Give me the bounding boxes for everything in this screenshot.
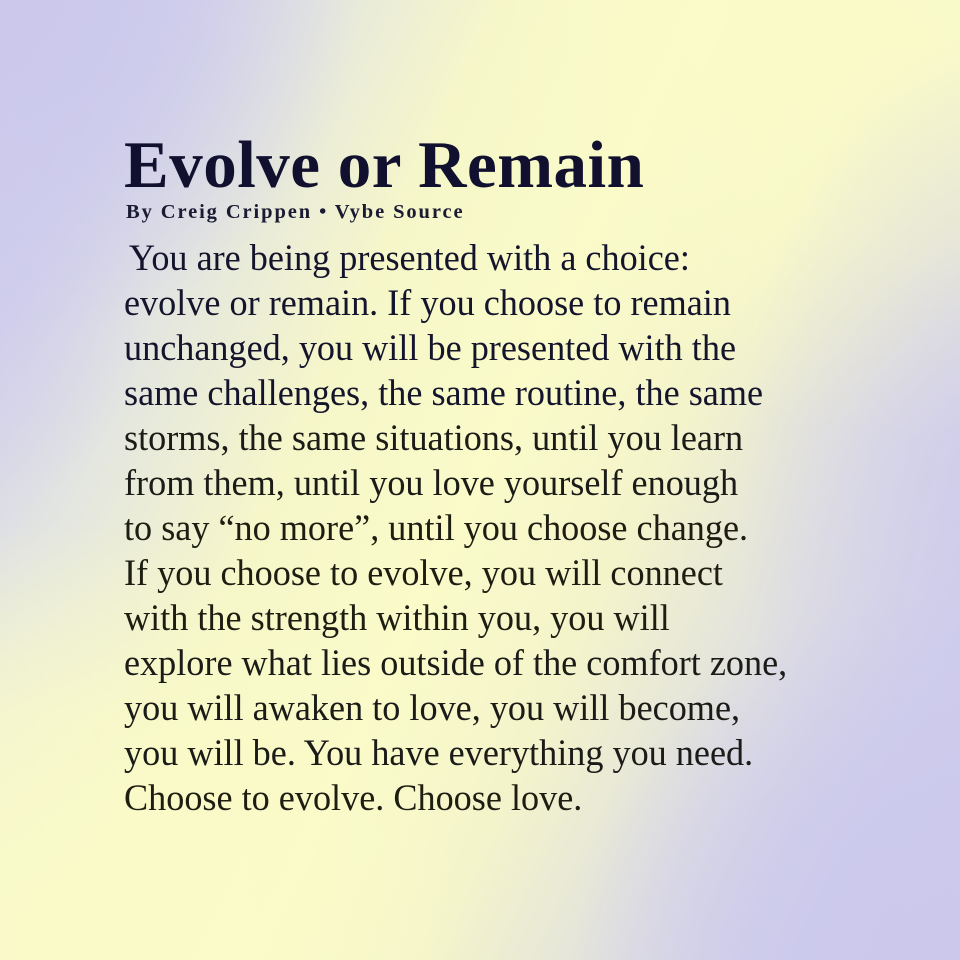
quote-line: with the strength within you, you will bbox=[124, 596, 800, 641]
quote-line: to say “no more”, until you choose chang… bbox=[124, 506, 800, 551]
page-title: Evolve or Remain bbox=[124, 132, 824, 199]
quote-poster: Evolve or Remain By Creig Crippen • Vybe… bbox=[0, 0, 960, 960]
quote-line: If you choose to evolve, you will connec… bbox=[124, 551, 800, 596]
quote-line: same challenges, the same routine, the s… bbox=[124, 371, 800, 416]
poster-content: Evolve or Remain By Creig Crippen • Vybe… bbox=[124, 132, 824, 821]
quote-line: explore what lies outside of the comfort… bbox=[124, 641, 800, 686]
quote-line: you will be. You have everything you nee… bbox=[124, 731, 800, 776]
quote-line: unchanged, you will be presented with th… bbox=[124, 326, 800, 371]
quote-line: evolve or remain. If you choose to remai… bbox=[124, 281, 800, 326]
quote-line: from them, until you love yourself enoug… bbox=[124, 461, 800, 506]
quote-line: you will awaken to love, you will become… bbox=[124, 686, 800, 731]
quote-body: You are being presented with a choice: e… bbox=[124, 236, 824, 821]
byline: By Creig Crippen • Vybe Source bbox=[126, 201, 824, 224]
quote-line: storms, the same situations, until you l… bbox=[124, 416, 800, 461]
quote-line: You are being presented with a choice: bbox=[124, 236, 800, 281]
quote-line: Choose to evolve. Choose love. bbox=[124, 776, 800, 821]
